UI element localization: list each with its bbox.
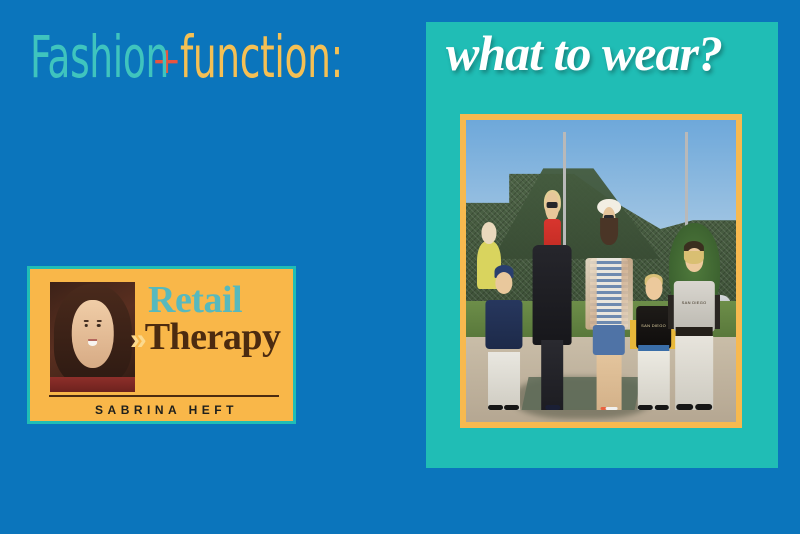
photo-legs bbox=[488, 352, 520, 410]
headline-word-function: function: bbox=[180, 28, 343, 86]
column-logo-box: Retail » Therapy SABRINA HEFT bbox=[27, 266, 296, 424]
photo-torso bbox=[533, 245, 572, 345]
photo-legs bbox=[597, 355, 622, 410]
photo-denim-shorts bbox=[593, 325, 625, 355]
photo-sunglasses bbox=[547, 202, 558, 208]
photo-shoe bbox=[606, 407, 618, 410]
photo-hair bbox=[600, 218, 618, 245]
feature-photo: SAN DIEGO SAN DIEGO bbox=[466, 120, 736, 422]
photo-person-boy-navy bbox=[482, 265, 525, 410]
chevron-double-right-icon: » bbox=[130, 325, 141, 355]
photo-jersey-wordmark: SAN DIEGO bbox=[682, 300, 707, 305]
column-logo-word-retail: Retail bbox=[148, 283, 283, 318]
photo-torso bbox=[485, 300, 522, 349]
headline-right: what to wear? bbox=[446, 28, 766, 78]
photo-belt bbox=[638, 345, 670, 352]
headshot-smile bbox=[88, 339, 97, 346]
headshot-eye bbox=[97, 324, 101, 327]
photo-person-woman-black-coat bbox=[525, 192, 579, 409]
photo-head bbox=[645, 277, 662, 300]
headshot-eye bbox=[84, 324, 88, 327]
headline-left: Fashion + function: bbox=[30, 28, 406, 90]
photo-shoe bbox=[548, 405, 560, 410]
photo-legs bbox=[542, 340, 564, 410]
byline-divider bbox=[49, 395, 279, 397]
headshot-eyebrow bbox=[96, 320, 101, 322]
article-header-graphic: Fashion + function: what to wear? bbox=[0, 0, 800, 534]
photo-belt bbox=[676, 327, 713, 335]
photo-hair bbox=[684, 251, 704, 265]
photo-jersey bbox=[636, 306, 672, 349]
author-headshot bbox=[50, 282, 135, 392]
photo-jersey bbox=[674, 281, 714, 332]
teal-panel: what to wear? bbox=[426, 22, 778, 468]
headshot-shirt bbox=[50, 377, 135, 392]
photo-legs bbox=[675, 336, 713, 410]
photo-shoe bbox=[638, 405, 653, 410]
column-logo-row-two: » Therapy bbox=[130, 320, 283, 355]
photo-shoe bbox=[695, 404, 712, 410]
photo-shoe bbox=[654, 405, 669, 410]
headline-word-fashion: Fashion bbox=[30, 28, 169, 86]
photo-legs bbox=[637, 351, 669, 409]
photo-shoe bbox=[676, 404, 693, 410]
photo-frame: SAN DIEGO SAN DIEGO bbox=[460, 114, 742, 428]
photo-head bbox=[495, 272, 512, 294]
column-logo-word-therapy: Therapy bbox=[145, 320, 281, 355]
photo-jersey-wordmark: SAN DIEGO bbox=[641, 323, 666, 328]
photo-person-boy-padres-grey: SAN DIEGO bbox=[671, 241, 717, 410]
headshot-eyebrow bbox=[84, 320, 89, 322]
photo-shoe bbox=[488, 405, 503, 410]
column-logo: Retail » Therapy bbox=[148, 283, 283, 355]
photo-shoe bbox=[504, 405, 519, 410]
headshot-face bbox=[71, 300, 114, 368]
photo-person-woman-white-hat bbox=[582, 199, 636, 410]
author-name: SABRINA HEFT bbox=[30, 403, 293, 417]
